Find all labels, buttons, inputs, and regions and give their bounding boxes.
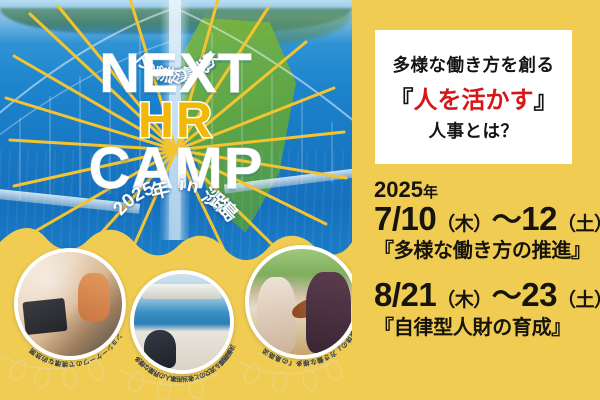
session-2-end: 23 xyxy=(521,276,557,313)
session-2-start: 8/21 xyxy=(374,276,436,313)
session-1-start: 7/10 xyxy=(374,200,436,237)
headline-line-1: 多様な働き方を創る xyxy=(393,52,555,77)
session-1-theme: 『多様な働き方の推進』 xyxy=(374,238,590,264)
event-poster: 次世代人事の交流イベント NEXT HR CAMP 2025年 in 淡路島 xyxy=(0,0,600,400)
session-2-theme: 『自律型人財の育成』 xyxy=(374,315,590,341)
session-2-start-day: （木） xyxy=(436,290,492,311)
headline-line-2: 『人を活かす』 xyxy=(390,80,558,115)
session-1-date: 7/10（木）〜12（土） xyxy=(374,201,590,237)
networking-photo-image xyxy=(134,274,230,370)
experience-photo-image xyxy=(249,249,352,355)
schedule-session-1: 2025年 7/10（木）〜12（土） 『多様な働き方の推進』 xyxy=(374,178,590,264)
session-1-start-day: （木） xyxy=(436,214,492,235)
caption-networking: 多様な業界の人事担当者との交流＆課題解決 xyxy=(178,318,179,319)
session-2-tilde: 〜 xyxy=(492,280,522,313)
schedule-year-unit: 年 xyxy=(423,184,438,201)
schedule-session-2: 8/21（木）〜23（土） 『自律型人財の育成』 xyxy=(374,277,590,340)
schedule-year: 2025年 xyxy=(374,178,590,201)
schedule-year-number: 2025 xyxy=(374,177,423,202)
headline-line-3: 人事とは？ xyxy=(429,118,519,143)
session-1-tilde: 〜 xyxy=(492,204,522,237)
session-2-end-day: （土） xyxy=(557,290,600,311)
session-1-end-day: （土） xyxy=(557,214,600,235)
info-panel: 多様な働き方を創る 『人を活かす』 人事とは？ 2025年 7/10（木）〜12… xyxy=(352,0,600,400)
headline-box: 多様な働き方を創る 『人を活かす』 人事とは？ xyxy=(375,30,572,164)
arc-bottom-char xyxy=(167,174,174,196)
photo-circle-experience xyxy=(245,245,352,359)
headline-bracket-close: 』 xyxy=(534,87,558,114)
headline-accent-text: 人を活かす xyxy=(414,87,534,114)
arc-bottom-char: i xyxy=(178,174,185,196)
caption-workation: 開放的な環境でのワーケーション xyxy=(66,300,67,301)
hero-visual-panel: 次世代人事の交流イベント NEXT HR CAMP 2025年 in 淡路島 xyxy=(0,0,352,400)
caption-experience: 淡路島の『多様な働き方』の体験 xyxy=(298,298,299,299)
workation-photo-image xyxy=(18,252,122,356)
headline-bracket-open: 『 xyxy=(390,87,414,114)
violin-icon xyxy=(290,290,336,322)
schedule-block: 2025年 7/10（木）〜12（土） 『多様な働き方の推進』 8/21（木）〜… xyxy=(374,178,590,341)
session-1-end: 12 xyxy=(521,200,557,237)
session-2-date: 8/21（木）〜23（土） xyxy=(374,277,590,313)
